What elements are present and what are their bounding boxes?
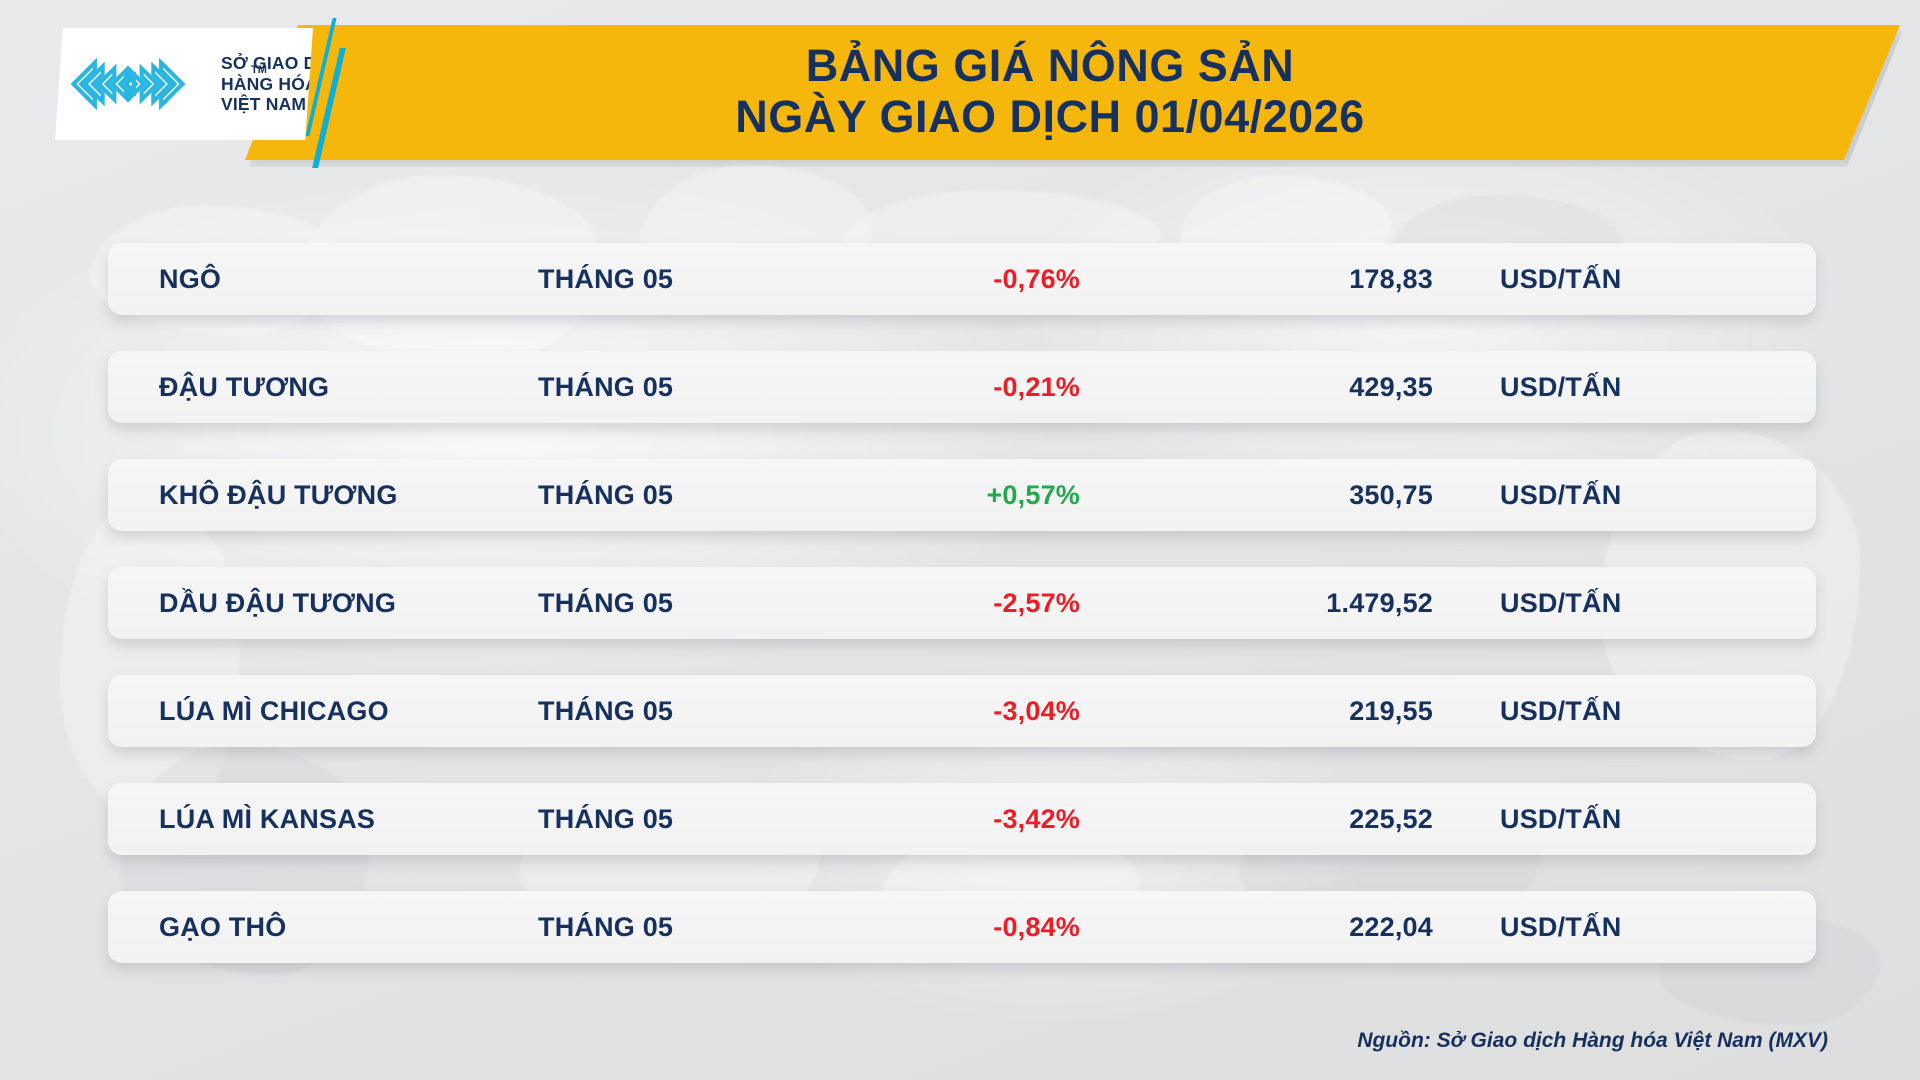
title-line-2: NGÀY GIAO DỊCH 01/04/2026 — [735, 93, 1364, 142]
price-value: 350,75 — [1138, 480, 1443, 511]
contract-month: THÁNG 05 — [538, 264, 838, 295]
page-header: TM SỞ GIAO DỊCH HÀNG HÓA VIỆT NAM BẢNG G… — [0, 0, 1920, 175]
price-value: 1.479,52 — [1138, 588, 1443, 619]
commodity-name: ĐẬU TƯƠNG — [108, 372, 538, 403]
contract-month: THÁNG 05 — [538, 480, 838, 511]
contract-month: THÁNG 05 — [538, 912, 838, 943]
price-value: 225,52 — [1138, 804, 1443, 835]
contract-month: THÁNG 05 — [538, 588, 838, 619]
title-line-1: BẢNG GIÁ NÔNG SẢN — [806, 42, 1295, 91]
contract-month: THÁNG 05 — [538, 696, 838, 727]
table-row: NGÔTHÁNG 05-0,76%178,83USD/TẤN — [108, 243, 1816, 315]
table-row: LÚA MÌ KANSASTHÁNG 05-3,42%225,52USD/TẤN — [108, 783, 1816, 855]
change-percent: -0,84% — [838, 912, 1138, 943]
commodity-name: DẦU ĐẬU TƯƠNG — [108, 588, 538, 619]
price-unit: USD/TẤN — [1443, 804, 1816, 835]
price-value: 429,35 — [1138, 372, 1443, 403]
price-unit: USD/TẤN — [1443, 480, 1816, 511]
change-percent: -2,57% — [838, 588, 1138, 619]
commodity-name: LÚA MÌ KANSAS — [108, 804, 538, 835]
price-unit: USD/TẤN — [1443, 588, 1816, 619]
commodity-name: GẠO THÔ — [108, 912, 538, 943]
trademark-mark: TM — [251, 64, 267, 76]
table-row: KHÔ ĐẬU TƯƠNGTHÁNG 05+0,57%350,75USD/TẤN — [108, 459, 1816, 531]
table-row: GẠO THÔTHÁNG 05-0,84%222,04USD/TẤN — [108, 891, 1816, 963]
mxv-maze-logo-icon — [69, 47, 187, 121]
logo[interactable]: TM SỞ GIAO DỊCH HÀNG HÓA VIỆT NAM — [55, 28, 313, 140]
price-value: 178,83 — [1138, 264, 1443, 295]
change-percent: -0,21% — [838, 372, 1138, 403]
price-value: 219,55 — [1138, 696, 1443, 727]
source-note: Nguồn: Sở Giao dịch Hàng hóa Việt Nam (M… — [1357, 1029, 1828, 1053]
change-percent: +0,57% — [838, 480, 1138, 511]
change-percent: -3,04% — [838, 696, 1138, 727]
price-table: NGÔTHÁNG 05-0,76%178,83USD/TẤNĐẬU TƯƠNGT… — [108, 243, 1816, 999]
price-unit: USD/TẤN — [1443, 912, 1816, 943]
price-unit: USD/TẤN — [1443, 264, 1816, 295]
table-row: ĐẬU TƯƠNGTHÁNG 05-0,21%429,35USD/TẤN — [108, 351, 1816, 423]
price-unit: USD/TẤN — [1443, 696, 1816, 727]
price-unit: USD/TẤN — [1443, 372, 1816, 403]
commodity-name: NGÔ — [108, 264, 538, 295]
table-row: LÚA MÌ CHICAGOTHÁNG 05-3,04%219,55USD/TẤ… — [108, 675, 1816, 747]
commodity-name: KHÔ ĐẬU TƯƠNG — [108, 480, 538, 511]
page-title: BẢNG GIÁ NÔNG SẢN NGÀY GIAO DỊCH 01/04/2… — [420, 26, 1680, 158]
price-value: 222,04 — [1138, 912, 1443, 943]
change-percent: -3,42% — [838, 804, 1138, 835]
contract-month: THÁNG 05 — [538, 372, 838, 403]
contract-month: THÁNG 05 — [538, 804, 838, 835]
commodity-name: LÚA MÌ CHICAGO — [108, 696, 538, 727]
change-percent: -0,76% — [838, 264, 1138, 295]
table-row: DẦU ĐẬU TƯƠNGTHÁNG 05-2,57%1.479,52USD/T… — [108, 567, 1816, 639]
